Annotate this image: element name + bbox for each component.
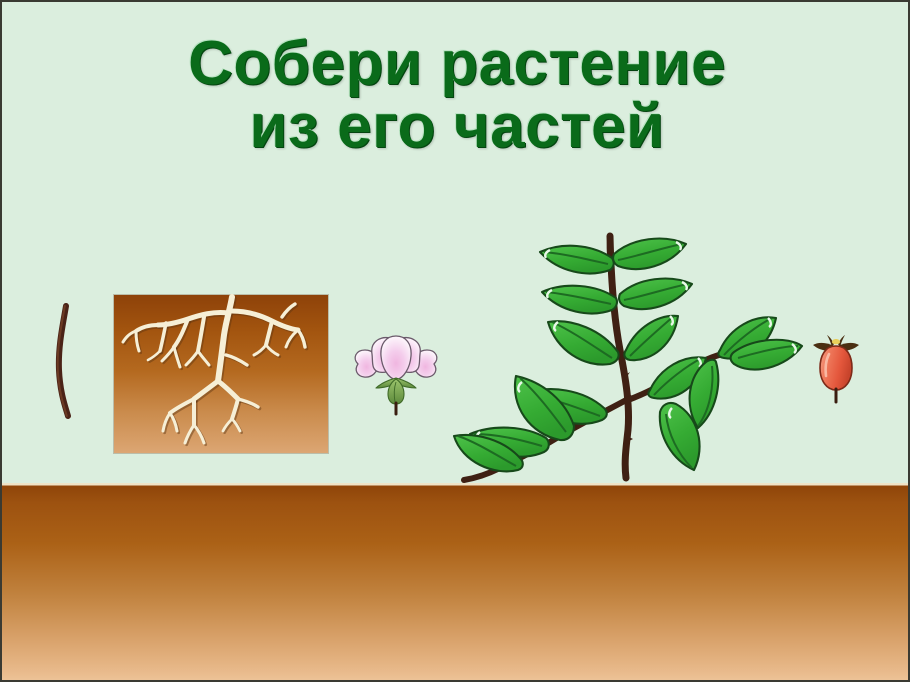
plant-part-fruit[interactable] xyxy=(808,330,864,402)
slide-canvas: Собери растение из его частей xyxy=(0,0,910,682)
plant-part-stem-piece[interactable] xyxy=(46,302,100,420)
leaf xyxy=(619,279,692,309)
leaf xyxy=(624,316,678,360)
plant-part-roots[interactable] xyxy=(114,295,328,453)
stem-piece-shape xyxy=(59,306,68,416)
flower-calyx xyxy=(376,378,416,404)
plant-part-leafy-branch[interactable] xyxy=(454,230,802,480)
leaf xyxy=(548,321,619,364)
page-title: Собери растение из его частей xyxy=(2,32,910,158)
leaf xyxy=(542,286,617,314)
root-system xyxy=(123,297,307,445)
root-strokes xyxy=(123,297,305,443)
leaf xyxy=(540,246,614,274)
plant-part-flower[interactable] xyxy=(350,330,442,414)
flower-petals xyxy=(355,336,437,380)
fruit-crown xyxy=(832,339,840,344)
title-line-2: из его частей xyxy=(2,95,910,158)
title-line-1: Собери растение xyxy=(2,32,910,95)
soil-edge-line xyxy=(2,483,910,485)
soil-band xyxy=(2,483,910,682)
leaf xyxy=(613,239,686,269)
